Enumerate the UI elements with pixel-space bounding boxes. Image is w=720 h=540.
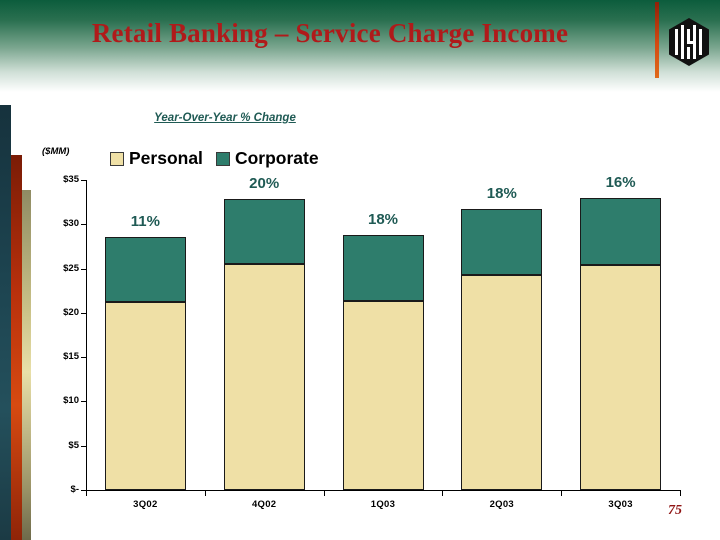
y-axis-tick-labels: $35$30$25$20$15$10$5$- [35,0,79,540]
bar-annotation-1q03: 18% [328,211,438,228]
x-axis-tick [442,490,443,496]
bar-segment-personal[interactable] [224,264,305,490]
y-axis-tick-label: $- [39,484,79,495]
y-axis-tick-label: $15 [39,351,79,362]
x-axis-tick [680,490,681,496]
bar-annotation-4q02: 20% [209,175,319,192]
x-axis-line [86,490,680,491]
y-axis-tick [81,357,87,358]
bar-segment-corporate[interactable] [343,235,424,301]
x-axis-tick-label: 4Q02 [219,499,309,510]
x-axis-tick [324,490,325,496]
y-axis-tick-label: $35 [39,174,79,185]
bar-segment-corporate[interactable] [105,237,186,303]
y-axis-tick-label: $10 [39,395,79,406]
bar-annotation-2q03: 18% [447,185,557,202]
bar-segment-corporate[interactable] [224,199,305,265]
y-axis-tick-label: $30 [39,218,79,229]
bar-segment-personal[interactable] [105,302,186,490]
y-axis-tick [81,446,87,447]
bar-stack-1q03[interactable] [343,235,424,490]
x-axis-tick [205,490,206,496]
bar-stack-2q03[interactable] [461,209,542,490]
y-axis-tick-label: $20 [39,307,79,318]
bar-segment-corporate[interactable] [461,209,542,275]
y-axis-tick [81,313,87,314]
bar-segment-corporate[interactable] [580,198,661,265]
x-axis-tick [561,490,562,496]
bar-annotation-3q03: 16% [566,174,676,191]
slide-canvas: Retail Banking – Service Charge Income Y… [0,0,720,540]
chart-plot-area: $35$30$25$20$15$10$5$- 3Q024Q021Q032Q033… [0,0,720,540]
bar-annotation-3q02: 11% [90,213,200,230]
bar-stack-4q02[interactable] [224,199,305,490]
x-axis-tick [86,490,87,496]
bar-stack-3q03[interactable] [580,198,661,490]
page-number: 75 [668,503,682,519]
y-axis-line [86,180,87,491]
bar-stack-3q02[interactable] [105,237,186,490]
y-axis-tick-label: $5 [39,440,79,451]
x-axis-tick-label: 1Q03 [338,499,428,510]
y-axis-tick [81,269,87,270]
y-axis-tick [81,180,87,181]
x-axis-tick-label: 3Q02 [100,499,190,510]
y-axis-tick [81,224,87,225]
bar-segment-personal[interactable] [461,275,542,490]
bar-segment-personal[interactable] [580,265,661,490]
x-axis-tick-label: 3Q03 [576,499,666,510]
y-axis-tick [81,401,87,402]
x-axis-tick-label: 2Q03 [457,499,547,510]
bar-segment-personal[interactable] [343,301,424,490]
y-axis-tick-label: $25 [39,263,79,274]
